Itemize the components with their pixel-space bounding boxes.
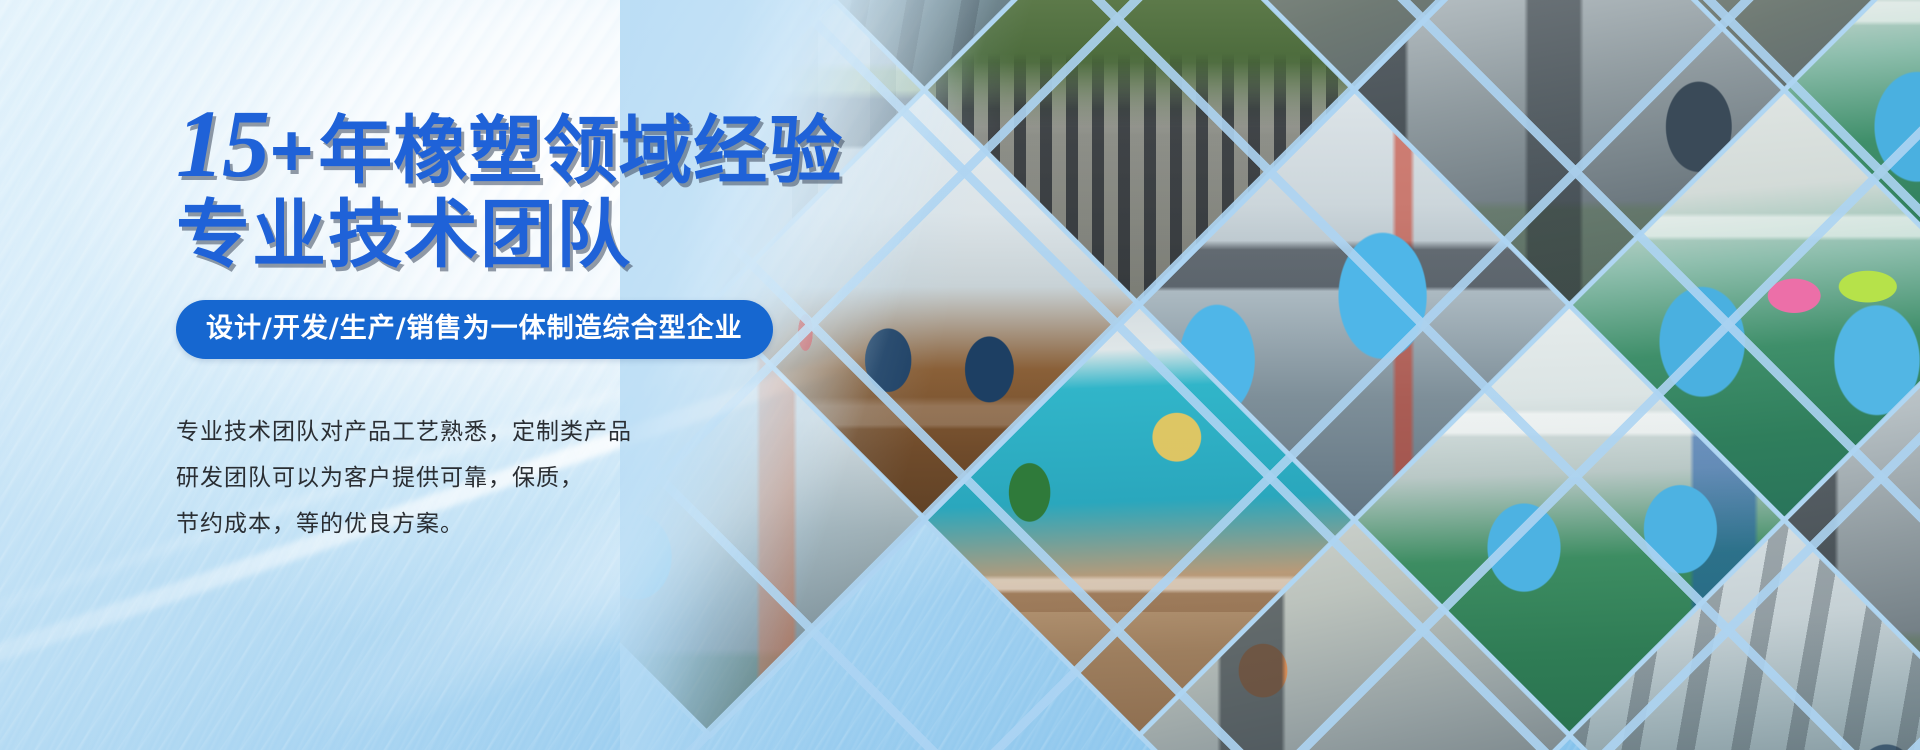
description-paragraph: 专业技术团队对产品工艺熟悉，定制类产品 研发团队可以为客户提供可靠，保质， 节约… bbox=[176, 409, 820, 547]
description-line: 节约成本，等的优良方案。 bbox=[176, 501, 820, 547]
hero-banner: 15+年橡塑领域经验 专业技术团队 设计/开发/生产/销售为一体制造综合型企业 … bbox=[0, 0, 1920, 750]
years-number: 15 bbox=[176, 90, 268, 197]
headline-line-1: 15+年橡塑领域经验 bbox=[176, 96, 820, 192]
hero-content: 15+年橡塑领域经验 专业技术团队 设计/开发/生产/销售为一体制造综合型企业 … bbox=[0, 0, 820, 750]
description-line: 专业技术团队对产品工艺熟悉，定制类产品 bbox=[176, 409, 820, 455]
description-line: 研发团队可以为客户提供可靠，保质， bbox=[176, 455, 820, 501]
tagline-pill[interactable]: 设计/开发/生产/销售为一体制造综合型企业 bbox=[176, 300, 773, 359]
headline-line-1-text: 年橡塑领域经验 bbox=[318, 108, 843, 194]
plus-sign: + bbox=[270, 109, 314, 192]
headline-line-2: 专业技术团队 bbox=[176, 198, 820, 272]
